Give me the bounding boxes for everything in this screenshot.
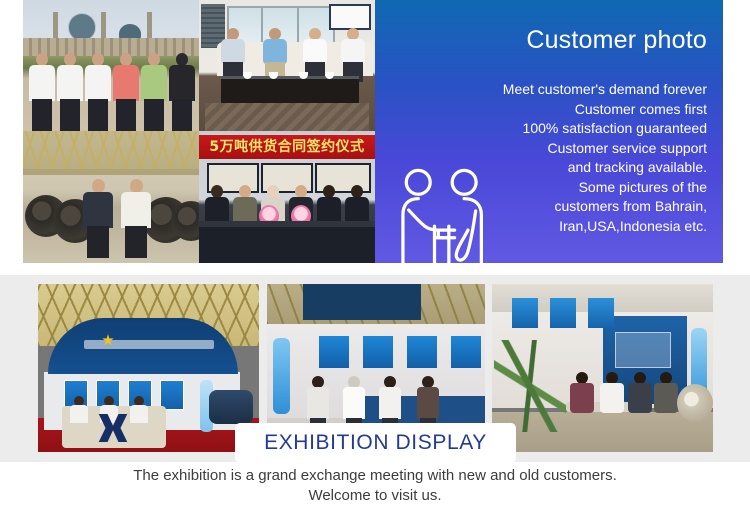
product-poster-3 xyxy=(407,336,437,368)
exhibition-photo-booth-front[interactable] xyxy=(38,284,259,452)
customer-gradient-panel: Customer photo Meet customer's demand fo… xyxy=(375,0,723,263)
customer-photo-exhibition-page: 5万吨供货合同签约仪式 Customer photo Meet customer… xyxy=(0,0,750,514)
cable-spool-1 xyxy=(209,390,253,424)
seated-person-3 xyxy=(303,28,327,76)
person-5 xyxy=(141,53,167,131)
description-line-1: Meet customer's demand forever xyxy=(407,80,707,100)
page-title: Customer photo xyxy=(526,26,707,55)
meeting-poster-2 xyxy=(550,298,576,328)
seated-person-1 xyxy=(221,28,245,76)
exhibition-display-label: EXHIBITION DISPLAY xyxy=(235,423,516,463)
product-poster-1 xyxy=(319,336,349,368)
display-coil xyxy=(677,384,713,422)
meeting-person-2 xyxy=(600,372,624,430)
customer-photo-office-meeting[interactable] xyxy=(199,0,375,131)
exhibition-caption: The exhibition is a grand exchange meeti… xyxy=(0,466,750,506)
caption-line-1: The exhibition is a grand exchange meeti… xyxy=(0,466,750,486)
description-line-4: Customer service support xyxy=(407,139,707,159)
exhibition-display-text: EXHIBITION DISPLAY xyxy=(264,431,487,455)
mosque-dome-main xyxy=(69,14,95,40)
factory-man-2 xyxy=(121,179,151,257)
customer-photo-mosque[interactable] xyxy=(23,0,199,131)
coffee-table xyxy=(221,76,359,105)
factory-man-1 xyxy=(83,179,113,257)
seated-person-2 xyxy=(263,28,287,76)
person-4 xyxy=(113,53,139,131)
caption-line-2: Welcome to visit us. xyxy=(0,486,750,506)
customer-photo-factory[interactable] xyxy=(23,131,199,263)
booth-header-band xyxy=(303,284,421,320)
booth-staff-3 xyxy=(130,396,148,422)
product-poster-2 xyxy=(363,336,393,368)
meeting-person-4 xyxy=(654,372,678,430)
person-3 xyxy=(85,53,111,131)
meeting-person-3 xyxy=(628,372,652,430)
customer-photo-signing-ceremony[interactable]: 5万吨供货合同签约仪式 xyxy=(199,131,375,263)
product-shelf xyxy=(615,332,671,368)
ceremony-red-banner: 5万吨供货合同签约仪式 xyxy=(199,135,375,159)
light-pillar-2 xyxy=(273,338,290,414)
booth-staff-1 xyxy=(70,396,88,422)
ceremony-desk xyxy=(199,221,375,263)
meeting-poster-3 xyxy=(588,298,614,328)
exhibition-photo-meeting[interactable] xyxy=(492,284,713,452)
meeting-poster-1 xyxy=(512,298,538,328)
description-line-3: 100% satisfaction guaranteed xyxy=(407,119,707,139)
person-6 xyxy=(169,53,195,131)
wall-certificate xyxy=(329,4,371,30)
factory-beam xyxy=(23,169,199,175)
factory-roof-truss xyxy=(23,131,199,171)
meeting-person-1 xyxy=(570,372,594,430)
seated-person-4 xyxy=(341,28,365,76)
person-2 xyxy=(57,53,83,131)
description-line-2: Customer comes first xyxy=(407,100,707,120)
handshake-icon xyxy=(393,167,498,263)
product-poster-4 xyxy=(451,336,481,368)
customer-photo-banner: 5万吨供货合同签约仪式 Customer photo Meet customer… xyxy=(23,0,723,263)
palm-plant xyxy=(494,340,566,432)
floor-rug xyxy=(205,103,369,131)
person-1 xyxy=(29,53,55,131)
customer-photo-grid: 5万吨供货合同签约仪式 xyxy=(23,0,375,263)
booth-company-name xyxy=(84,340,214,349)
